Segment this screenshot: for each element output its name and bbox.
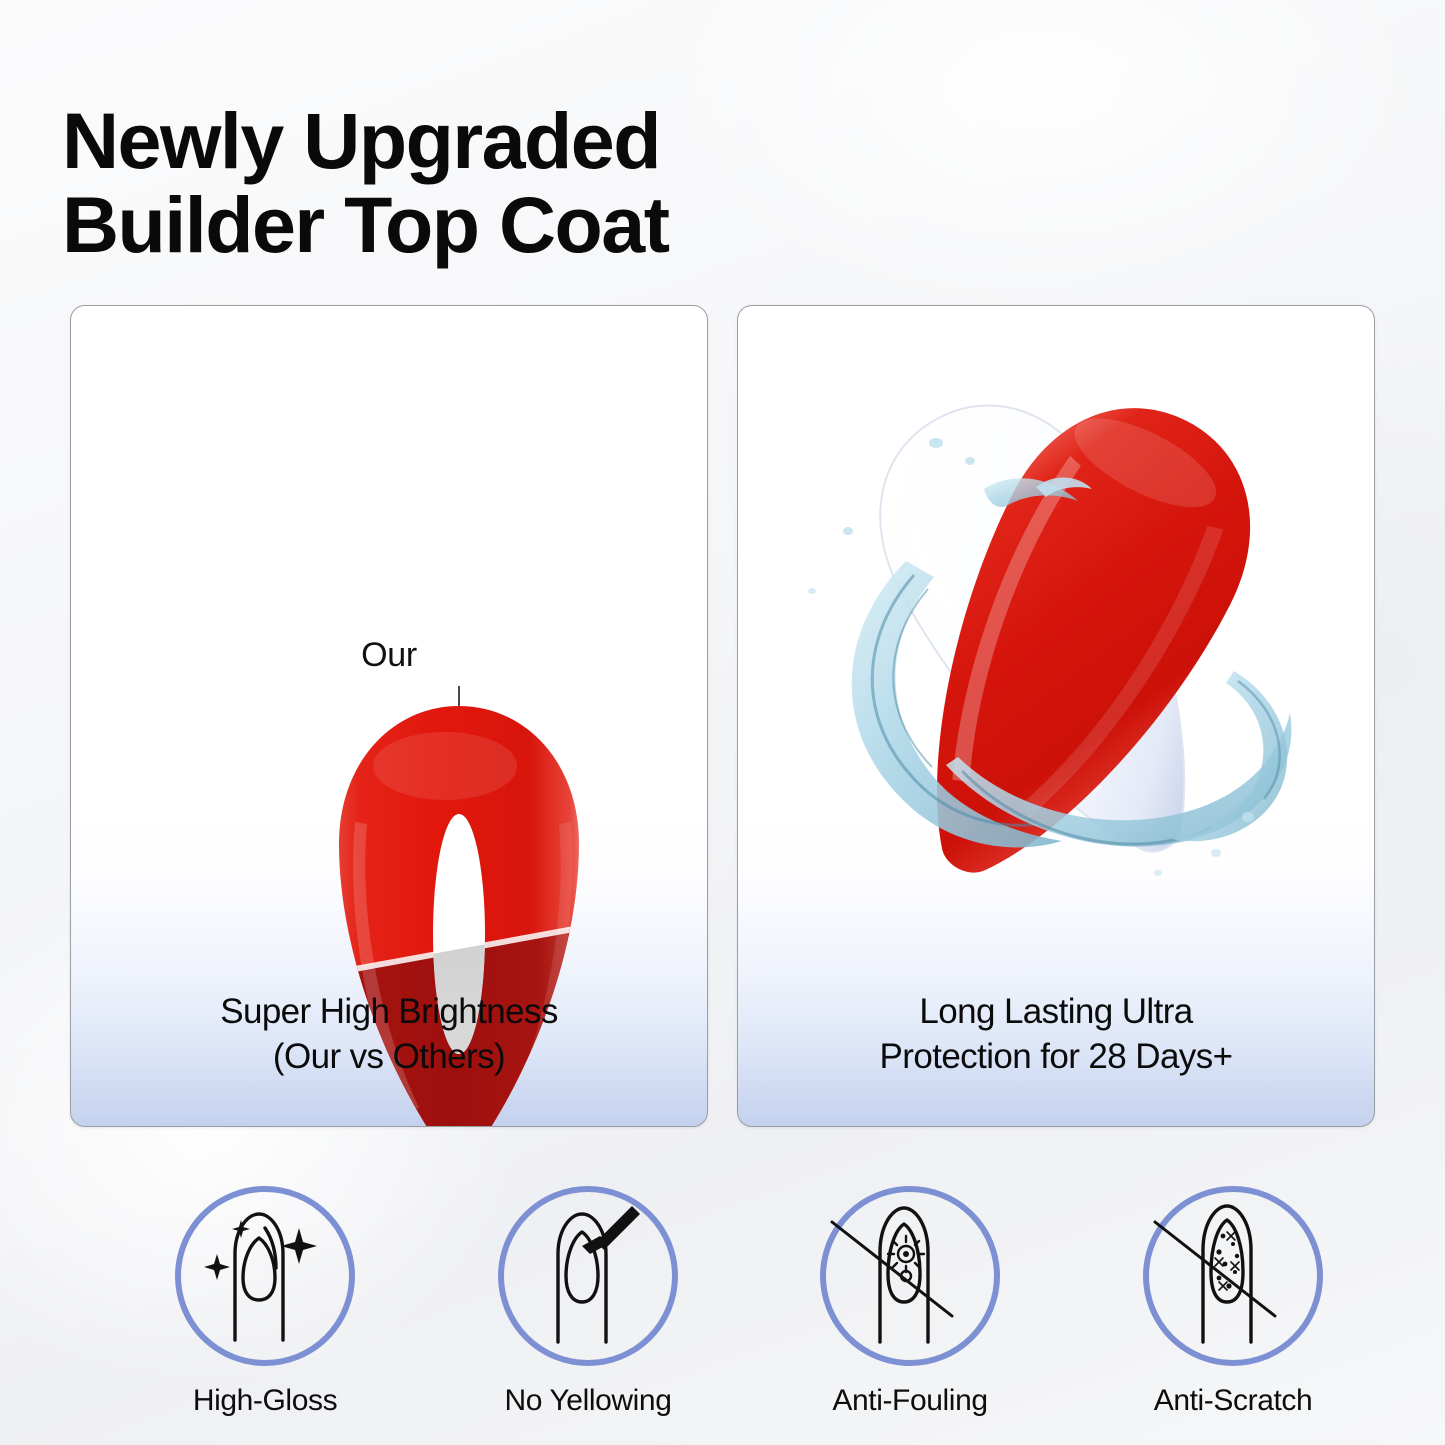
page-title: Newly Upgraded Builder Top Coat: [62, 99, 962, 266]
feature-label: High-Gloss: [140, 1384, 390, 1418]
feature-label: No Yellowing: [463, 1384, 713, 1418]
card-caption-protection: Long Lasting Ultra Protection for 28 Day…: [738, 990, 1374, 1080]
caption-line-2: (Our vs Others): [71, 1035, 707, 1080]
caption-line-1: Long Lasting Ultra: [738, 990, 1374, 1035]
feature-row: High-Gloss No Yellowing: [0, 1186, 1445, 1436]
feature-icon-ring: [1143, 1186, 1323, 1366]
feature-icon-ring: [175, 1186, 355, 1366]
feature-icon-ring: [820, 1186, 1000, 1366]
caption-line-1: Super High Brightness: [71, 990, 707, 1035]
feature-no-yellowing: No Yellowing: [463, 1186, 713, 1418]
feature-label: Anti-Fouling: [785, 1384, 1035, 1418]
title-line-1: Newly Upgraded: [62, 99, 962, 183]
label-our: Our: [259, 636, 519, 675]
card-brightness-comparison: Our: [70, 305, 708, 1127]
water-splash-nail-graphic: [786, 361, 1326, 926]
feature-anti-fouling: Anti-Fouling: [785, 1186, 1035, 1418]
feature-icon-ring: [498, 1186, 678, 1366]
title-line-2: Builder Top Coat: [62, 183, 962, 267]
card-long-lasting-protection: Long Lasting Ultra Protection for 28 Day…: [737, 305, 1375, 1127]
caption-line-2: Protection for 28 Days+: [738, 1035, 1374, 1080]
feature-anti-scratch: Anti-Scratch: [1108, 1186, 1358, 1418]
feature-label: Anti-Scratch: [1108, 1384, 1358, 1418]
feature-high-gloss: High-Gloss: [140, 1186, 390, 1418]
card-caption-brightness: Super High Brightness (Our vs Others): [71, 990, 707, 1080]
